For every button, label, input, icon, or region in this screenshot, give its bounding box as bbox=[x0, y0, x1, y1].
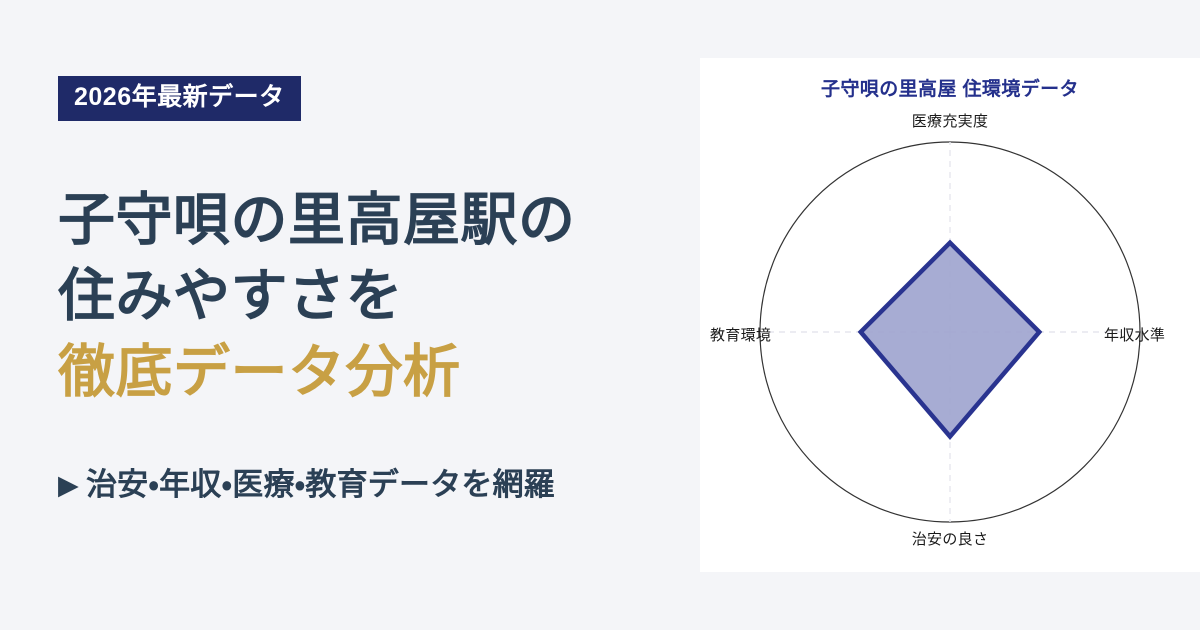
subtitle: ▶治安・年収・医療・教育データを網羅 bbox=[58, 466, 555, 503]
text-column: 2026年最新データ 子守唄の里高屋駅の 住みやすさを 徹底データ分析 ▶治安・… bbox=[58, 0, 698, 630]
radar-axis-label-income: 年収水準 bbox=[1104, 324, 1165, 345]
radar-chart: 医療充実度 年収水準 治安の良さ 教育環境 bbox=[700, 58, 1200, 572]
triangle-right-icon: ▶ bbox=[58, 469, 79, 501]
date-badge: 2026年最新データ bbox=[58, 76, 301, 121]
radar-chart-svg bbox=[700, 58, 1200, 572]
page-title: 子守唄の里高屋駅の 住みやすさを 徹底データ分析 bbox=[58, 183, 708, 410]
radar-axis-label-medical: 医療充実度 bbox=[912, 110, 989, 131]
radar-axis-label-education: 教育環境 bbox=[710, 324, 771, 345]
page-title-line-2: 住みやすさを bbox=[58, 259, 708, 335]
chart-card: 子守唄の里高屋 住環境データ 医療充実度 年収水準 治安の良さ 教育環境 bbox=[700, 58, 1200, 572]
page-title-line-3-accent: 徹底データ分析 bbox=[58, 335, 708, 411]
page-title-line-1: 子守唄の里高屋駅の bbox=[58, 183, 708, 259]
og-image-root: 2026年最新データ 子守唄の里高屋駅の 住みやすさを 徹底データ分析 ▶治安・… bbox=[0, 0, 1200, 630]
radar-axis-label-safety: 治安の良さ bbox=[912, 528, 989, 549]
subtitle-text: 治安・年収・医療・教育データを網羅 bbox=[86, 467, 555, 502]
radar-data-polygon bbox=[861, 243, 1040, 437]
